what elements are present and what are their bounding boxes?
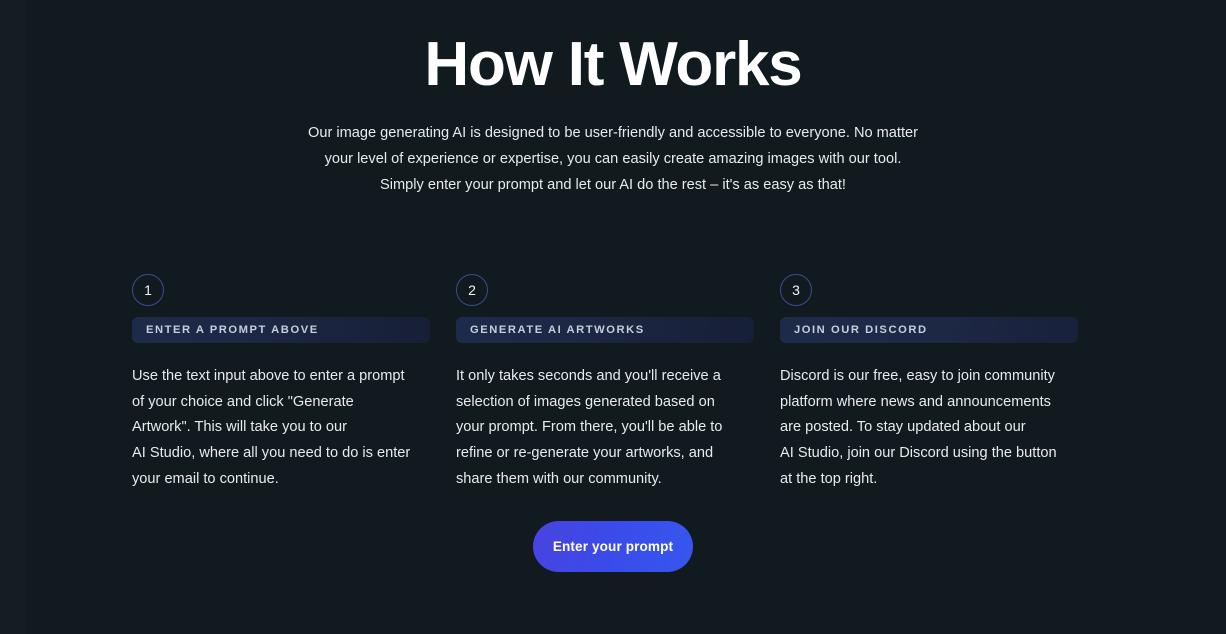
step-description-line: your prompt. From there, you'll be able … xyxy=(456,419,722,435)
step-label-text: ENTER A PROMPT ABOVE xyxy=(146,324,319,336)
step-description: It only takes seconds and you'll receive… xyxy=(456,364,754,493)
steps-grid: 1 ENTER A PROMPT ABOVE Use the text inpu… xyxy=(132,274,1078,493)
step-description-line: selection of images generated based on xyxy=(456,394,715,410)
step-description-line: AI Studio, where all you need to do is e… xyxy=(132,445,410,461)
step-description-line: AI Studio, join our Discord using the bu… xyxy=(780,445,1057,461)
step-label-bar: ENTER A PROMPT ABOVE xyxy=(132,317,430,343)
step-description-line: are posted. To stay updated about our xyxy=(780,419,1026,435)
step-description-line: refine or re-generate your artworks, and xyxy=(456,445,713,461)
how-it-works-section: How It Works Our image generating AI is … xyxy=(0,0,1226,634)
step-description-line: your email to continue. xyxy=(132,471,279,487)
hero-subtitle-line: Our image generating AI is designed to b… xyxy=(308,125,918,141)
step-label-text: GENERATE AI ARTWORKS xyxy=(470,324,645,336)
hero-subtitle: Our image generating AI is designed to b… xyxy=(263,121,963,198)
step-label-bar: JOIN OUR DISCORD xyxy=(780,317,1078,343)
step-description-line: Artwork". This will take you to our xyxy=(132,419,347,435)
step-description-line: It only takes seconds and you'll receive… xyxy=(456,368,721,384)
step-label-bar: GENERATE AI ARTWORKS xyxy=(456,317,754,343)
hero-subtitle-line: your level of experience or expertise, y… xyxy=(325,151,902,167)
step-number-badge: 1 xyxy=(132,274,164,306)
step-description-line: share them with our community. xyxy=(456,471,662,487)
step-card-1: 1 ENTER A PROMPT ABOVE Use the text inpu… xyxy=(132,274,430,493)
step-description-line: of your choice and click "Generate xyxy=(132,394,354,410)
step-card-2: 2 GENERATE AI ARTWORKS It only takes sec… xyxy=(456,274,754,493)
step-description: Use the text input above to enter a prom… xyxy=(132,364,430,493)
step-description-line: Use the text input above to enter a prom… xyxy=(132,368,405,384)
enter-your-prompt-button[interactable]: Enter your prompt xyxy=(533,521,693,572)
step-number-badge: 2 xyxy=(456,274,488,306)
step-description-line: Discord is our free, easy to join commun… xyxy=(780,368,1055,384)
cta-container: Enter your prompt xyxy=(0,521,1226,572)
step-label-text: JOIN OUR DISCORD xyxy=(794,324,928,336)
hero-subtitle-line: Simply enter your prompt and let our AI … xyxy=(380,177,846,193)
step-number-badge: 3 xyxy=(780,274,812,306)
step-card-3: 3 JOIN OUR DISCORD Discord is our free, … xyxy=(780,274,1078,493)
hero-block: How It Works Our image generating AI is … xyxy=(0,0,1226,198)
step-description-line: at the top right. xyxy=(780,471,877,487)
step-description-line: platform where news and announcements xyxy=(780,394,1051,410)
step-description: Discord is our free, easy to join commun… xyxy=(780,364,1078,493)
page-title: How It Works xyxy=(0,30,1226,99)
